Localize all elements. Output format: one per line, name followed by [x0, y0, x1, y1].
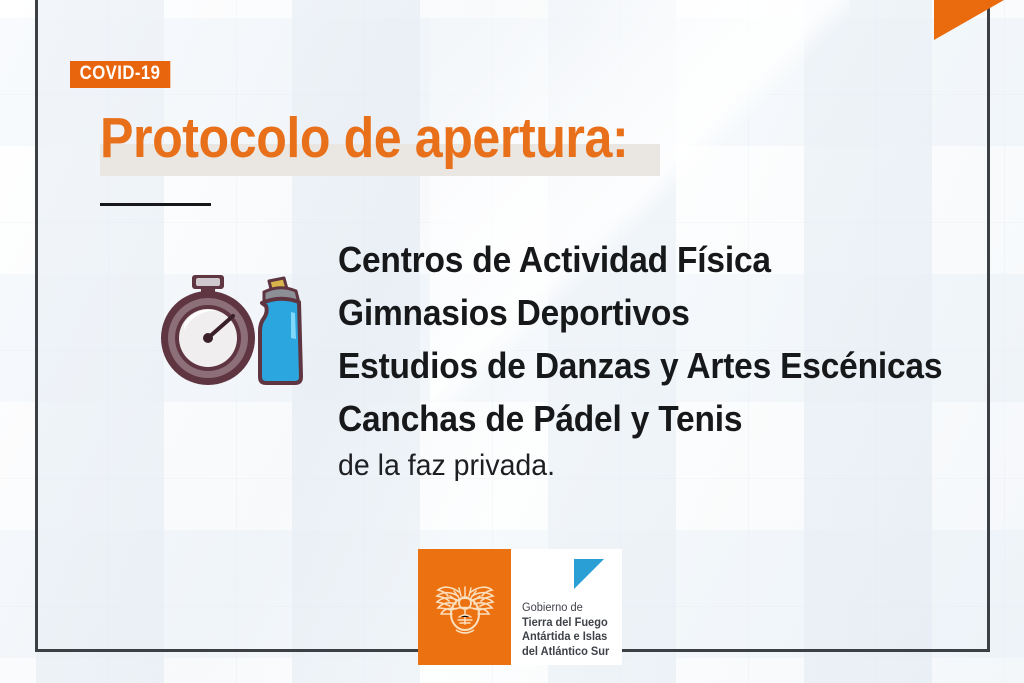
list-footnote: de la faz privada.: [338, 445, 927, 487]
activity-list: Centros de Actividad Física Gimnasios De…: [338, 233, 958, 487]
water-bottle-icon: [260, 278, 301, 383]
title-divider-rule: [100, 203, 211, 206]
government-logo: Gobierno de Tierra del Fuego Antártida e…: [418, 549, 622, 665]
orange-corner-triangle-icon: [934, 0, 1004, 40]
logo-line-1: Gobierno de: [522, 601, 609, 616]
page-title: Protocolo de apertura:: [100, 104, 628, 172]
logo-white-block: Gobierno de Tierra del Fuego Antártida e…: [511, 549, 622, 665]
logo-line-4: del Atlántico Sur: [522, 645, 609, 660]
stopwatch-icon: [161, 275, 255, 385]
logo-orange-block: [418, 549, 511, 665]
covid-19-badge: COVID-19: [70, 61, 170, 88]
list-item: Estudios de Danzas y Artes Escénicas: [338, 339, 915, 392]
list-item: Centros de Actividad Física: [338, 233, 915, 286]
list-item: Gimnasios Deportivos: [338, 286, 915, 339]
logo-line-2: Tierra del Fuego: [522, 616, 609, 631]
stopwatch-and-water-bottle-illustration: [158, 272, 308, 390]
coat-of-arms-icon: [432, 578, 498, 640]
poster-canvas: COVID-19 Protocolo de apertura:: [0, 0, 1024, 683]
logo-line-3: Antártida e Islas: [522, 630, 609, 645]
blue-triangle-icon: [574, 559, 604, 589]
logo-wordmark: Gobierno de Tierra del Fuego Antártida e…: [522, 601, 609, 659]
list-item: Canchas de Pádel y Tenis: [338, 392, 915, 445]
